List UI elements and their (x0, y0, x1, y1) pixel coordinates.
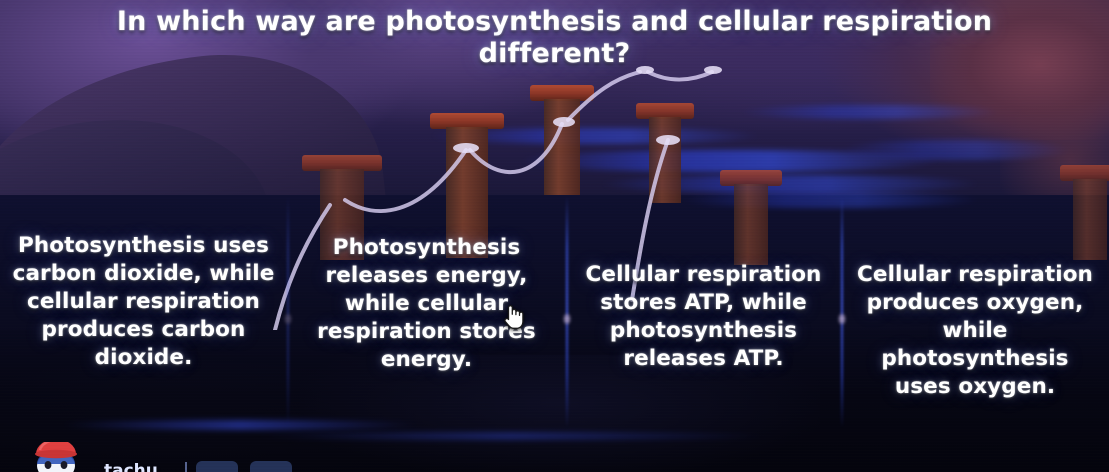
answer-grid: Photosynthesis uses carbon dioxide, whil… (0, 196, 1109, 428)
answer-option-d[interactable]: Cellular respiration produces oxygen, wh… (841, 196, 1109, 428)
answer-option-c[interactable]: Cellular respiration stores ATP, while p… (566, 196, 841, 428)
bottom-bar-button-2[interactable] (250, 461, 292, 472)
avatar (30, 442, 82, 472)
background-water-streak (740, 105, 1000, 119)
bottom-bar: tachu (0, 442, 1109, 472)
background-glow-line (250, 432, 770, 440)
background-post (636, 103, 694, 203)
answer-option-a[interactable]: Photosynthesis uses carbon dioxide, whil… (0, 196, 287, 428)
answer-option-a-label: Photosynthesis uses carbon dioxide, whil… (10, 196, 277, 428)
background-water-streak (520, 150, 940, 172)
background-water-streak (840, 140, 1070, 160)
answer-option-b-label: Photosynthesis releases energy, while ce… (297, 196, 556, 428)
answer-option-c-label: Cellular respiration stores ATP, while p… (576, 196, 831, 428)
player-username: tachu (104, 461, 158, 472)
question-text: In which way are photosynthesis and cell… (0, 6, 1109, 70)
quiz-screen: In which way are photosynthesis and cell… (0, 0, 1109, 472)
answer-option-d-label: Cellular respiration produces oxygen, wh… (851, 196, 1099, 428)
answer-option-b[interactable]: Photosynthesis releases energy, while ce… (287, 196, 566, 428)
bottom-bar-button-1[interactable] (196, 461, 238, 472)
bottom-bar-separator (185, 462, 187, 472)
background-post (530, 85, 594, 195)
background-water-streak (600, 175, 980, 193)
background-water-streak (430, 128, 760, 144)
